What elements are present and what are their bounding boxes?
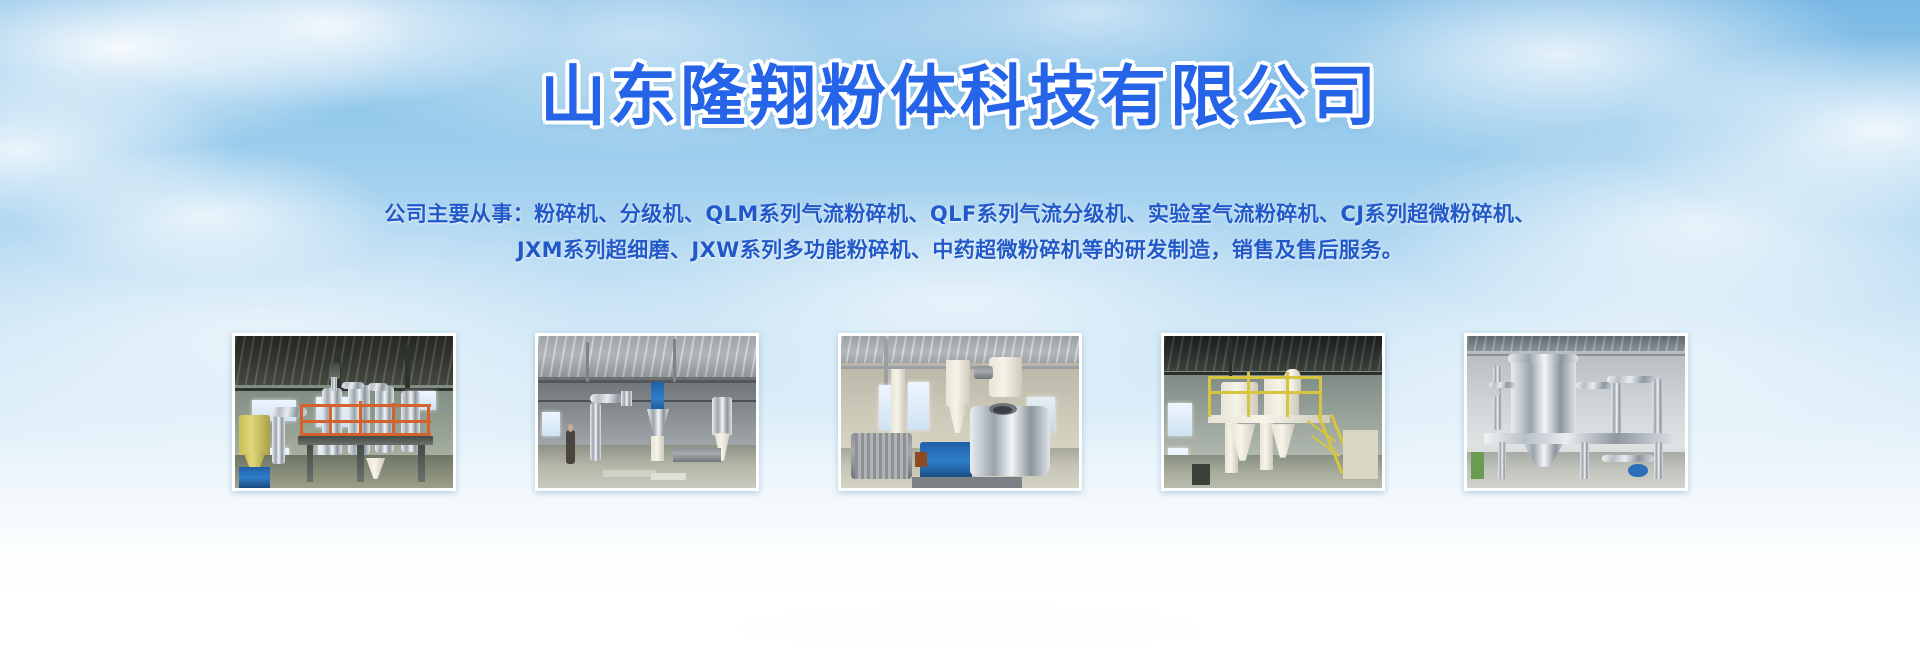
product-photo-jet-mill-line — [235, 336, 453, 488]
product-gallery — [232, 333, 1688, 491]
bottom-glow — [690, 601, 1250, 661]
product-photo-motor-blower — [841, 336, 1079, 488]
product-photo-cyclone-tower — [1164, 336, 1382, 488]
company-title-text: 山东隆翔粉体科技有限公司 — [540, 62, 1380, 131]
company-description: 公司主要从事：粉碎机、分级机、QLM系列气流粉碎机、QLF系列气流分级机、实验室… — [0, 196, 1920, 268]
gallery-item-4[interactable] — [1161, 333, 1385, 491]
product-photo-workshop-ducting — [538, 336, 756, 488]
product-photo-stainless-vessel — [1467, 336, 1685, 488]
gallery-item-1[interactable] — [232, 333, 456, 491]
gallery-item-2[interactable] — [535, 333, 759, 491]
page-title: 山东隆翔粉体科技有限公司 — [0, 62, 1920, 131]
bottom-white-fade — [0, 517, 1920, 667]
gallery-item-3[interactable] — [838, 333, 1082, 491]
description-line-2: JXM系列超细磨、JXW系列多功能粉碎机、中药超微粉碎机等的研发制造，销售及售后… — [0, 232, 1920, 268]
company-banner: 山东隆翔粉体科技有限公司 公司主要从事：粉碎机、分级机、QLM系列气流粉碎机、Q… — [0, 0, 1920, 667]
description-line-1: 公司主要从事：粉碎机、分级机、QLM系列气流粉碎机、QLF系列气流分级机、实验室… — [0, 196, 1920, 232]
gallery-item-5[interactable] — [1464, 333, 1688, 491]
